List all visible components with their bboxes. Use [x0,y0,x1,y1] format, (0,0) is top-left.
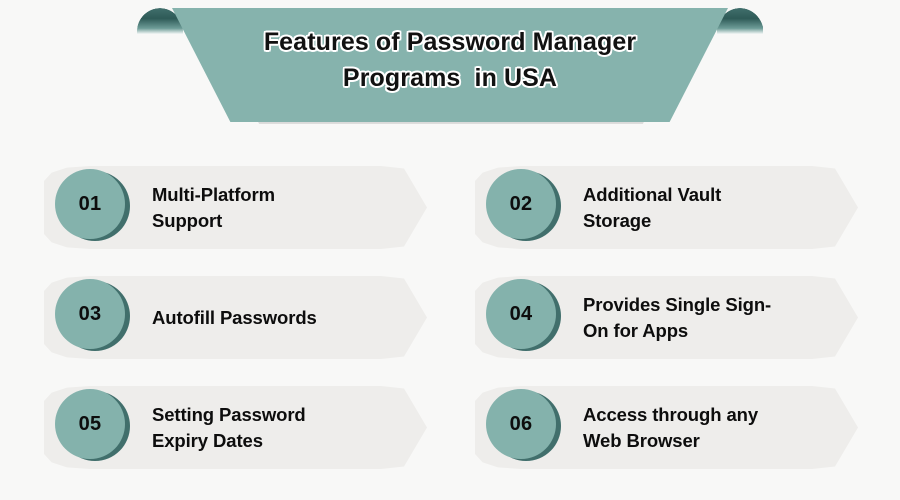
feature-item-04[interactable]: 04 Provides Single Sign- On for Apps [475,276,856,359]
feature-label-line-1: Autofill Passwords [152,305,402,331]
feature-item-06[interactable]: 06 Access through any Web Browser [475,386,856,469]
feature-item-02[interactable]: 02 Additional Vault Storage [475,166,856,249]
feature-label: Autofill Passwords [152,276,402,359]
feature-row: 01 Multi-Platform Support 02 Additional … [0,166,900,249]
feature-label: Provides Single Sign- On for Apps [583,276,833,359]
feature-row: 03 Autofill Passwords 04 Provides Single… [0,276,900,359]
feature-item-01[interactable]: 01 Multi-Platform Support [44,166,425,249]
feature-label-line-1: Provides Single Sign- [583,292,833,318]
feature-label: Setting Password Expiry Dates [152,386,402,469]
feature-number-badge: 04 [486,279,556,349]
feature-label-line-1: Additional Vault [583,182,833,208]
feature-number-badge: 06 [486,389,556,459]
feature-label-line-2: On for Apps [583,318,833,344]
feature-label-line-2: Storage [583,208,833,234]
feature-item-05[interactable]: 05 Setting Password Expiry Dates [44,386,425,469]
page-title: Features of Password Manager Programs in… [190,24,710,96]
feature-label-line-2: Web Browser [583,428,833,454]
feature-number-badge: 05 [55,389,125,459]
feature-label-line-1: Access through any [583,402,833,428]
page-title-line-2: Programs in USA [190,60,710,96]
feature-label: Additional Vault Storage [583,166,833,249]
feature-label-line-2: Support [152,208,402,234]
page-title-line-1: Features of Password Manager [190,24,710,60]
feature-label-line-1: Setting Password [152,402,402,428]
feature-label: Access through any Web Browser [583,386,833,469]
feature-number-badge: 01 [55,169,125,239]
feature-grid: 01 Multi-Platform Support 02 Additional … [0,166,900,496]
feature-label-line-1: Multi-Platform [152,182,402,208]
feature-number-badge: 02 [486,169,556,239]
feature-number-badge: 03 [55,279,125,349]
feature-row: 05 Setting Password Expiry Dates 06 Acce… [0,386,900,469]
feature-label-line-2: Expiry Dates [152,428,402,454]
feature-item-03[interactable]: 03 Autofill Passwords [44,276,425,359]
title-banner: Features of Password Manager Programs in… [0,0,900,132]
feature-label: Multi-Platform Support [152,166,402,249]
